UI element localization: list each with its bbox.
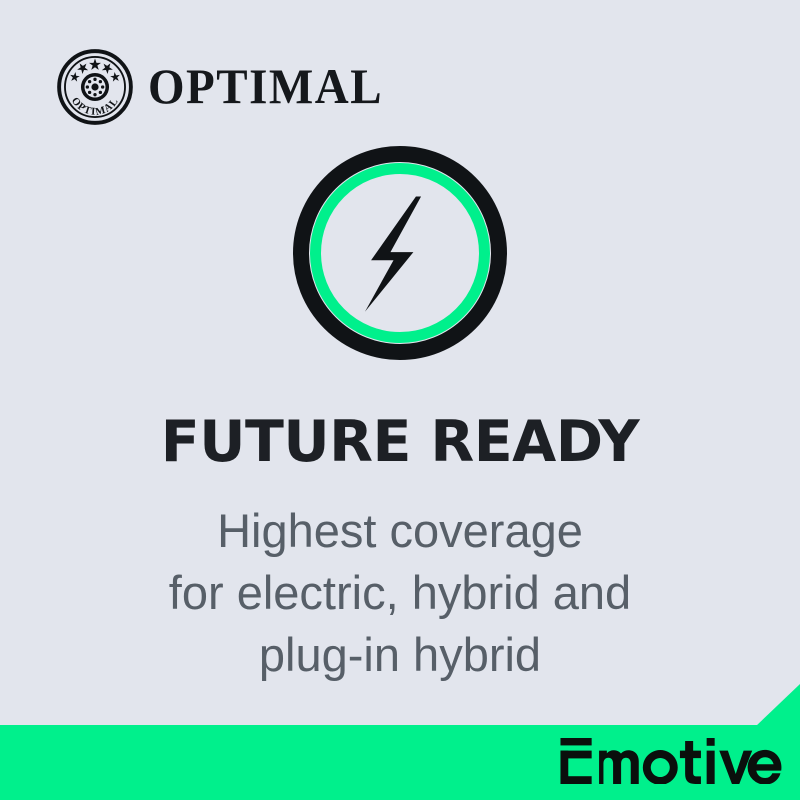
emotive-logo-icon: [559, 738, 782, 784]
footer-diagonal-accent: [756, 684, 800, 726]
optimal-badge-icon: OPTIMAL: [56, 48, 134, 126]
body-copy-line: plug-in hybrid: [0, 624, 800, 686]
body-copy: Highest coverage for electric, hybrid an…: [0, 500, 800, 686]
page-title: FUTURE READY: [0, 414, 800, 471]
brand-lockup: OPTIMAL OPTIMAL: [56, 48, 383, 126]
body-copy-line: Highest coverage: [0, 500, 800, 562]
body-copy-line: for electric, hybrid and: [0, 562, 800, 624]
lightning-bolt-in-circle-icon: [293, 146, 507, 360]
lightning-bolt-icon: [365, 196, 421, 311]
brand-wordmark: OPTIMAL: [148, 62, 383, 112]
promo-card: OPTIMAL OPTIMAL: [0, 0, 800, 800]
